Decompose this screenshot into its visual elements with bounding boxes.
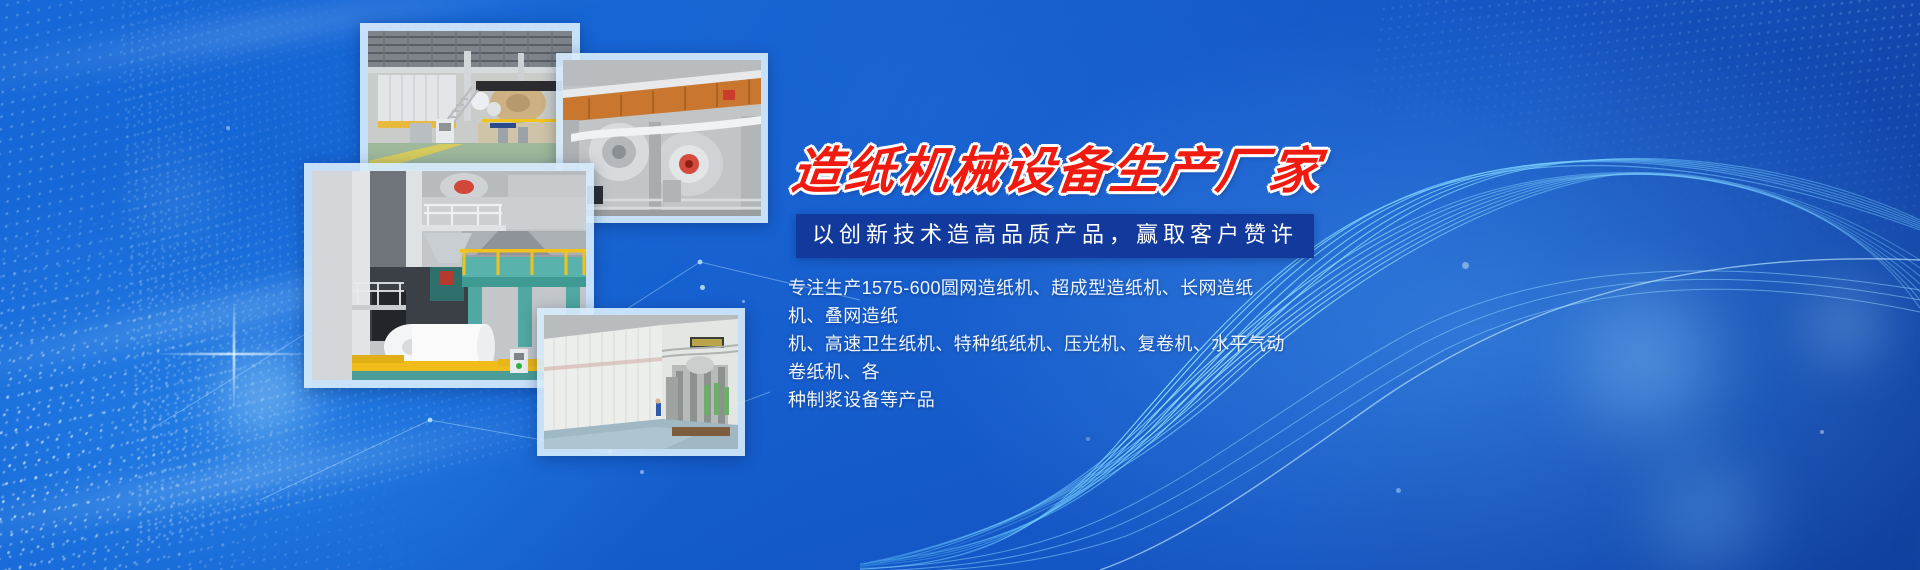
description-line-3: 种制浆设备等产品 <box>788 386 1288 414</box>
banner-text-block: 造纸机械设备生产厂家 以创新技术造高品质产品，赢取客户赞许 专注生产1575-6… <box>786 140 1306 414</box>
photo-image-workshop-interior <box>544 315 738 449</box>
sparkle-dot <box>742 300 745 303</box>
banner-description: 专注生产1575-600圆网造纸机、超成型造纸机、长网造纸机、叠网造纸 机、高速… <box>788 274 1288 414</box>
description-line-2: 机、高速卫生纸机、特种纸纸机、压光机、复卷机、水平气动卷纸机、各 <box>788 330 1288 386</box>
sparkle-dot <box>640 470 644 474</box>
glow-blob <box>130 150 220 240</box>
photo-card-workshop-interior[interactable] <box>537 308 745 456</box>
banner-slogan: 以创新技术造高品质产品，赢取客户赞许 <box>796 214 1314 258</box>
light-streak-icon <box>0 404 616 554</box>
photo-card-paper-machine-hall[interactable] <box>360 23 580 178</box>
photo-image-paper-machine-hall <box>368 31 572 170</box>
banner-headline: 造纸机械设备生产厂家 <box>788 140 1310 202</box>
sparkle-dot <box>700 285 705 290</box>
sparkle-dot <box>226 126 230 130</box>
hero-banner: 造纸机械设备生产厂家 以创新技术造高品质产品，赢取客户赞许 专注生产1575-6… <box>0 0 1920 570</box>
description-line-1: 专注生产1575-600圆网造纸机、超成型造纸机、长网造纸机、叠网造纸 <box>788 274 1288 330</box>
star-flare-icon <box>232 352 236 356</box>
